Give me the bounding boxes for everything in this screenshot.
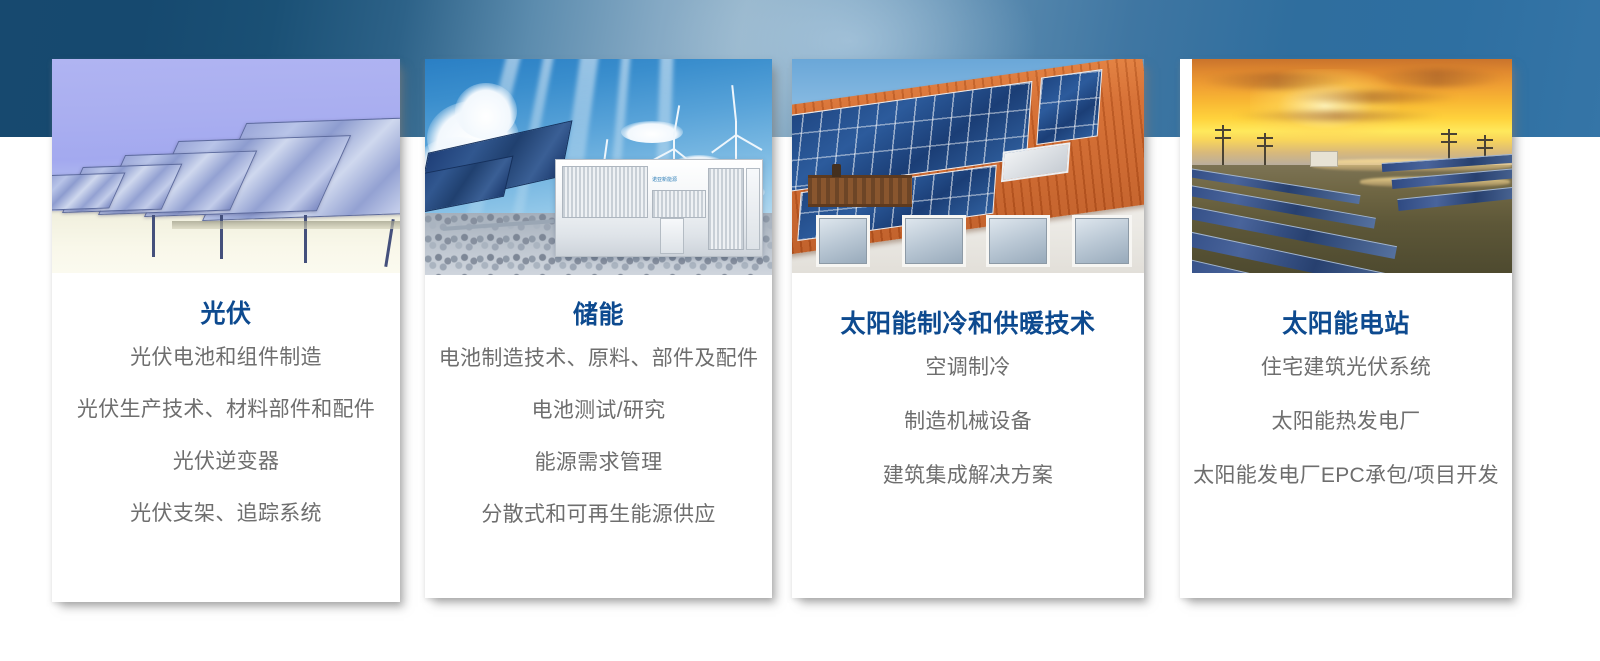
wall-lamp-icon bbox=[832, 164, 841, 177]
card-body-pv: 光伏 光伏电池和组件制造 光伏生产技术、材料部件和配件 光伏逆变器 光伏支架、追… bbox=[52, 299, 400, 527]
solar-panel-array-photo bbox=[52, 59, 400, 273]
list-item[interactable]: 住宅建筑光伏系统 bbox=[1186, 355, 1506, 381]
card-body-plant: 太阳能电站 住宅建筑光伏系统 太阳能热发电厂 太阳能发电厂EPC承包/项目开发 bbox=[1180, 309, 1512, 517]
card-list-plant: 住宅建筑光伏系统 太阳能热发电厂 太阳能发电厂EPC承包/项目开发 bbox=[1186, 355, 1506, 489]
list-item[interactable]: 光伏生产技术、材料部件和配件 bbox=[58, 397, 394, 423]
category-card-plant[interactable]: 太阳能电站 住宅建筑光伏系统 太阳能热发电厂 太阳能发电厂EPC承包/项目开发 bbox=[1180, 59, 1512, 598]
list-item[interactable]: 光伏逆变器 bbox=[58, 449, 394, 475]
list-item[interactable]: 能源需求管理 bbox=[431, 450, 766, 476]
category-card-cooling[interactable]: 太阳能制冷和供暖技术 空调制冷 制造机械设备 建筑集成解决方案 bbox=[792, 59, 1144, 598]
list-item[interactable]: 光伏电池和组件制造 bbox=[58, 345, 394, 371]
card-title-plant: 太阳能电站 bbox=[1186, 309, 1506, 339]
list-item[interactable]: 制造机械设备 bbox=[798, 409, 1138, 435]
card-body-cooling: 太阳能制冷和供暖技术 空调制冷 制造机械设备 建筑集成解决方案 bbox=[792, 309, 1144, 517]
list-item[interactable]: 光伏支架、追踪系统 bbox=[58, 501, 394, 527]
list-item[interactable]: 太阳能热发电厂 bbox=[1186, 409, 1506, 435]
card-list-pv: 光伏电池和组件制造 光伏生产技术、材料部件和配件 光伏逆变器 光伏支架、追踪系统 bbox=[58, 345, 394, 527]
card-title-pv: 光伏 bbox=[58, 299, 394, 329]
list-item[interactable]: 分散式和可再生能源供应 bbox=[431, 502, 766, 528]
card-list-storage: 电池制造技术、原料、部件及配件 电池测试/研究 能源需求管理 分散式和可再生能源… bbox=[431, 346, 766, 528]
category-card-pv[interactable]: 光伏 光伏电池和组件制造 光伏生产技术、材料部件和配件 光伏逆变器 光伏支架、追… bbox=[52, 59, 400, 602]
card-body-storage: 储能 电池制造技术、原料、部件及配件 电池测试/研究 能源需求管理 分散式和可再… bbox=[425, 300, 772, 528]
category-card-deck: 光伏 光伏电池和组件制造 光伏生产技术、材料部件和配件 光伏逆变器 光伏支架、追… bbox=[0, 0, 1600, 661]
list-item[interactable]: 太阳能发电厂EPC承包/项目开发 bbox=[1186, 463, 1506, 489]
list-item[interactable]: 电池测试/研究 bbox=[431, 398, 766, 424]
card-list-cooling: 空调制冷 制造机械设备 建筑集成解决方案 bbox=[798, 355, 1138, 489]
category-card-storage[interactable]: 诺亚新能源 储能 电池制造技术、原料、部件及配件 电池测试/研究 能源需求管理 … bbox=[425, 59, 772, 598]
card-title-storage: 储能 bbox=[431, 300, 766, 330]
list-item[interactable]: 空调制冷 bbox=[798, 355, 1138, 381]
solar-farm-sunset-photo bbox=[1192, 59, 1512, 273]
rooftop-solar-house-photo bbox=[792, 59, 1144, 273]
list-item[interactable]: 电池制造技术、原料、部件及配件 bbox=[431, 346, 766, 372]
list-item[interactable]: 建筑集成解决方案 bbox=[798, 463, 1138, 489]
card-title-cooling: 太阳能制冷和供暖技术 bbox=[798, 309, 1138, 339]
energy-storage-container-photo: 诺亚新能源 bbox=[425, 59, 772, 275]
